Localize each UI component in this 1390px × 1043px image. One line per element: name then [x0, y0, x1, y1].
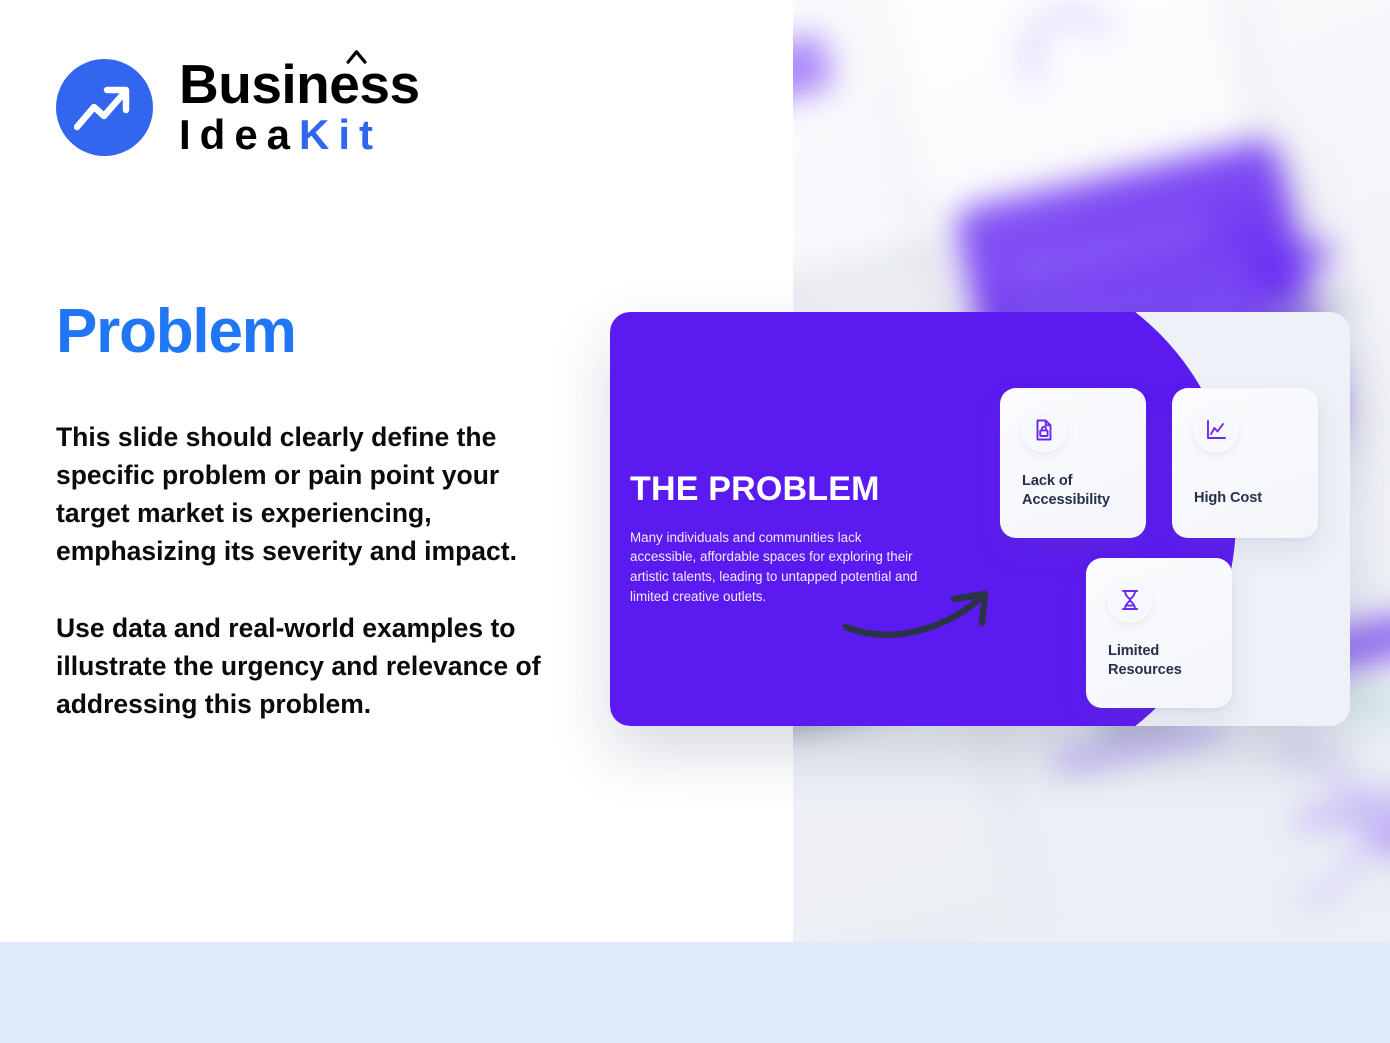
trend-arrow-circle-icon	[56, 59, 153, 156]
line-chart-icon	[1194, 408, 1238, 452]
feature-tile-label: Limited Resources	[1108, 642, 1232, 680]
page-title: Problem	[56, 296, 296, 367]
page-body-copy: This slide should clearly define the spe…	[56, 418, 566, 723]
slide-preview-page: Business IdeaKit Problem This slide shou…	[0, 0, 1390, 1043]
feature-tile-lack-of-accessibility[interactable]: Lack of Accessibility	[1000, 388, 1146, 538]
brand-name-idea: Idea	[179, 111, 299, 158]
brand-logo[interactable]: Business IdeaKit	[56, 56, 420, 158]
body-paragraph-2: Use data and real-world examples to illu…	[56, 609, 566, 723]
brand-name-kit: Kit	[299, 111, 382, 158]
hourglass-icon	[1108, 578, 1152, 622]
brand-name-line1: Business	[179, 56, 420, 112]
slide-card[interactable]: THE PROBLEM Many individuals and communi…	[610, 312, 1350, 726]
brand-wordmark: Business IdeaKit	[179, 56, 420, 158]
caret-accent-icon	[346, 49, 367, 64]
document-lock-icon	[1022, 408, 1066, 452]
brand-name-line2: IdeaKit	[179, 112, 420, 158]
bottom-accent-strip	[0, 942, 1390, 1043]
body-paragraph-1: This slide should clearly define the spe…	[56, 418, 566, 571]
curved-arrow-icon	[842, 587, 1002, 643]
feature-tile-label: Lack of Accessibility	[1022, 472, 1146, 510]
feature-tile-high-cost[interactable]: High Cost	[1172, 388, 1318, 538]
slide-heading: THE PROBLEM	[630, 472, 930, 508]
feature-tile-label: High Cost	[1194, 489, 1262, 508]
feature-tile-limited-resources[interactable]: Limited Resources	[1086, 558, 1232, 708]
brand-name-text: Business	[179, 53, 420, 115]
